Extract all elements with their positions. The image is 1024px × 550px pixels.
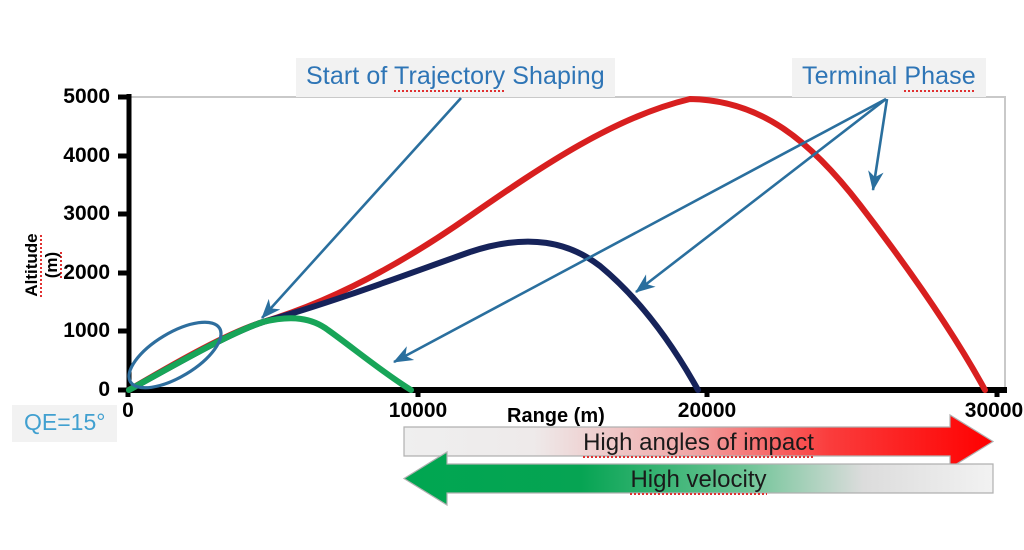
y-tick-1000: 1000	[28, 319, 110, 343]
bar-label-high-angles-of-impact: High angles of impact	[404, 429, 993, 457]
callout-start-of-trajectory-shaping: Start of Trajectory Shaping	[296, 58, 615, 97]
y-tick-5000: 5000	[28, 85, 110, 109]
bar-label-impact-text: High angles of impact	[583, 429, 814, 458]
arrow-terminal-red	[873, 99, 887, 190]
callout-terminal-plain: Terminal	[802, 62, 904, 90]
x-tick-20000: 20000	[652, 399, 762, 423]
callout-terminal-spell: Phase	[904, 62, 975, 92]
y-tick-0: 0	[28, 378, 110, 402]
y-axis-title: Altitude (m)	[22, 220, 62, 310]
callout-terminal-phase: Terminal Phase	[792, 58, 986, 97]
arrow-terminal-green	[394, 99, 886, 362]
callout-start-plain: Start of	[306, 62, 394, 90]
x-tick-10000: 10000	[363, 399, 473, 423]
y-tick-4000: 4000	[28, 144, 110, 168]
callout-start-spell: Trajectory	[394, 62, 505, 92]
bar-label-high-velocity: High velocity	[404, 466, 993, 494]
callout-start-tail: Shaping	[505, 62, 605, 90]
bar-label-velocity-text: High velocity	[630, 466, 766, 495]
trajectory-green-short-range	[129, 318, 411, 390]
x-axis-title: Range (m)	[507, 405, 605, 428]
y-axis-title-text: Altitude (m)	[22, 233, 62, 296]
trajectory-navy-mid-range	[129, 242, 698, 390]
chart-canvas: 5000 4000 3000 2000 1000 0 0 10000 20000…	[0, 0, 1024, 550]
arrow-terminal-navy	[636, 99, 886, 292]
boost-phase-ellipse	[119, 309, 231, 400]
qe-angle-label: QE=15°	[12, 405, 117, 442]
x-tick-30000: 30000	[939, 399, 1024, 423]
